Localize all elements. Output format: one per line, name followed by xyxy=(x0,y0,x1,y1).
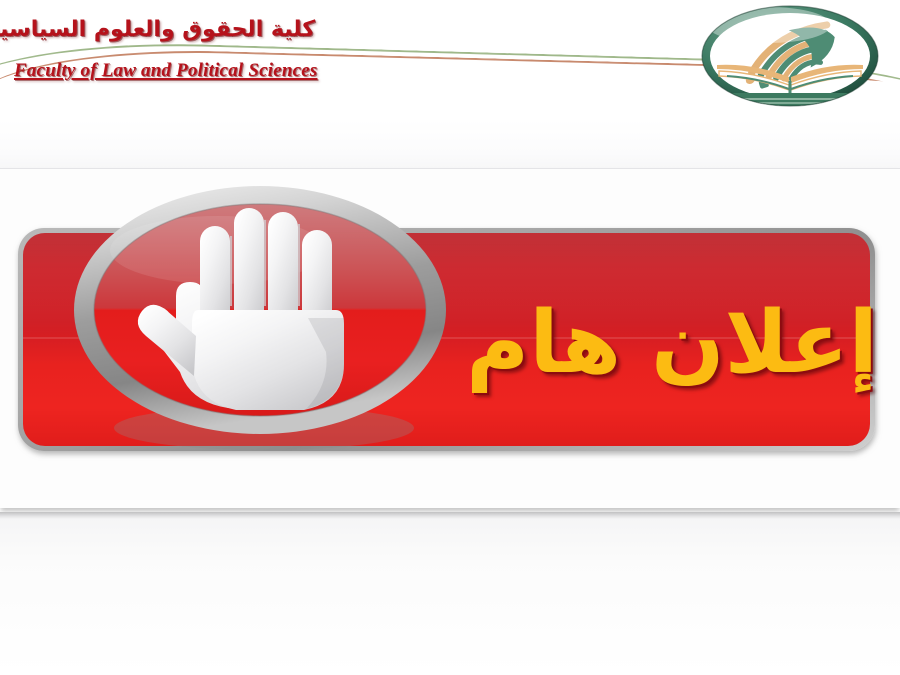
footer-blank-area xyxy=(0,512,900,675)
plate-drop-shadow xyxy=(0,512,900,519)
slide-canvas: كلية الحقوق والعلوم السياسية Faculty of … xyxy=(0,0,900,675)
content-image-plate: إعلان هام xyxy=(0,168,900,508)
university-logo xyxy=(697,3,883,111)
plate-top-edge xyxy=(0,168,900,169)
faculty-title-arabic: كلية الحقوق والعلوم السياسية xyxy=(0,17,315,42)
page-header: كلية الحقوق والعلوم السياسية Faculty of … xyxy=(0,0,900,120)
stop-hand-emblem xyxy=(68,178,458,458)
header-to-content-gap xyxy=(0,120,900,168)
announcement-headline: إعلان هام xyxy=(488,284,878,404)
faculty-title-english: Faculty of Law and Political Sciences xyxy=(14,60,317,82)
